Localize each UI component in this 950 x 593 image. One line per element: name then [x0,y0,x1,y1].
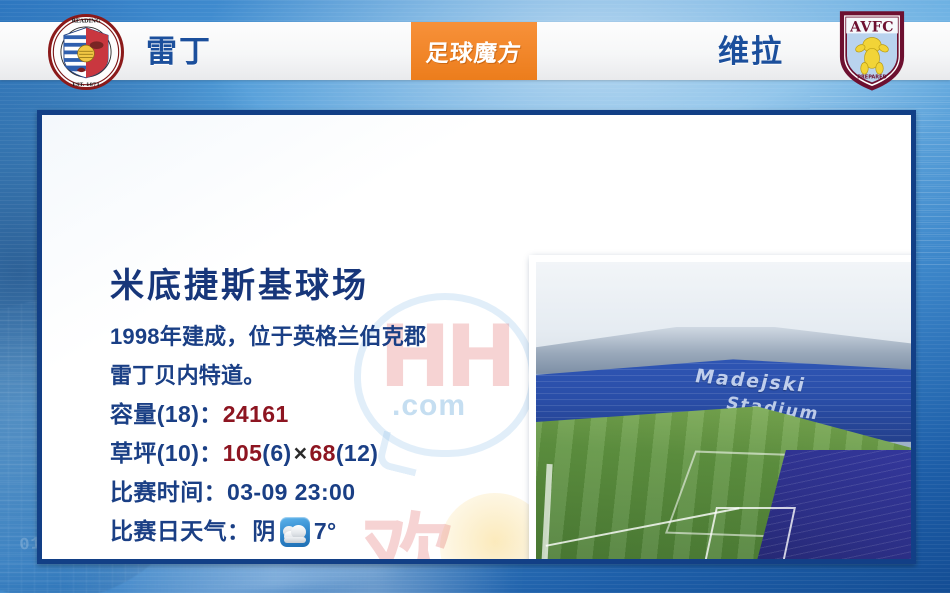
svg-text:EST. 1871: EST. 1871 [72,82,100,88]
aston-villa-crest-icon: AVFC PREPARED [837,8,907,92]
capacity-label: 容量(18)： [110,401,223,427]
match-venue-card: 0101001101110100011000010110010001101001 [0,0,950,593]
match-time-row: 比赛时间：03-09 23:00 [110,473,510,512]
pitch-label: 草坪(10)： [110,440,223,466]
madejski-stadium-photo: Madejski Stadium [536,262,915,564]
venue-title: 米底捷斯基球场 [110,261,510,311]
pitch-size-row: 草坪(10)：105(6)×68(12) [110,434,510,473]
capacity-row: 容量(18)：24161 [110,395,510,434]
weather-condition: 阴 [252,512,275,551]
pitch-length-rank: (6) [262,440,291,466]
weather-temperature: 7° [314,512,337,551]
site-logo-text: 足球魔方 [425,34,523,68]
photo-near-goal [704,507,796,563]
home-team-name: 雷丁 [146,32,212,72]
pitch-width: 68 [309,440,335,466]
svg-text:READING: READING [71,18,101,24]
away-team-name: 维拉 [718,32,784,72]
svg-text:AVFC: AVFC [849,20,894,36]
venue-description-line-1: 1998年建成，位于英格兰伯克郡 [110,317,510,356]
venue-info-panel: HH .com 欢 米底捷斯基球场 1998年建成，位于英格兰伯克郡 雷丁贝内特… [37,110,916,564]
svg-text:PREPARED: PREPARED [857,74,886,80]
pitch-length: 105 [223,440,263,466]
match-time-label: 比赛时间： [110,479,227,505]
match-time-value: 03-09 23:00 [227,479,355,505]
site-logo[interactable]: 足球魔方 [411,22,537,80]
weather-label: 比赛日天气： [110,512,250,551]
reading-fc-crest-icon: READING EST. 1871 [48,14,124,90]
venue-info-text: 米底捷斯基球场 1998年建成，位于英格兰伯克郡 雷丁贝内特道。 容量(18)：… [110,261,510,551]
cloudy-weather-icon [280,517,310,547]
pitch-width-rank: (12) [336,440,379,466]
stadium-photo-frame[interactable]: Madejski Stadium [529,255,916,564]
pitch-size-separator: × [292,440,310,466]
match-weather-row: 比赛日天气：阴7° [110,512,510,551]
capacity-value: 24161 [223,401,289,427]
venue-description-line-2: 雷丁贝内特道。 [110,356,510,395]
